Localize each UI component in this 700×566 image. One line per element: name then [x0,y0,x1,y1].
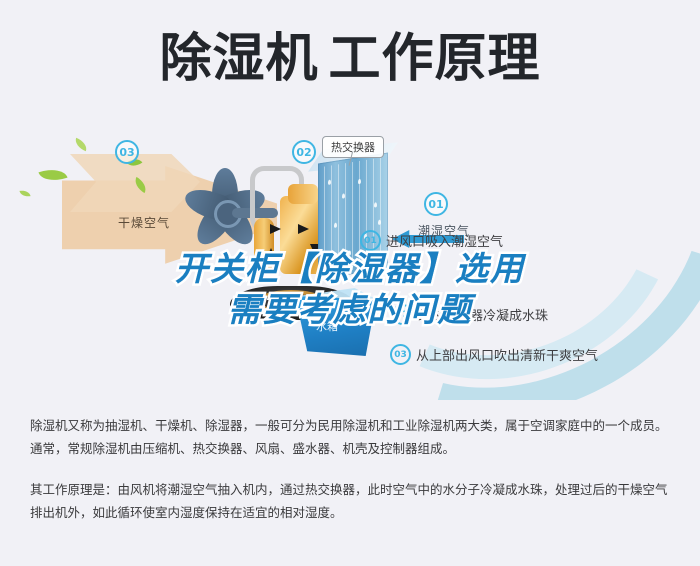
page-title: 除湿机工作原理 [159,33,540,85]
leaf-icon [19,189,30,198]
heat-exchanger-block [318,152,388,279]
article-body: 除湿机又称为抽湿机、干燥机、除湿器，一般可分为民用除湿机和工业除湿机两大类，属于… [30,414,678,524]
callout-badge-03: 03 [115,140,139,164]
water-tank-label: 水箱 [316,318,338,334]
step-note-02: 02 经过蒸发器冷凝成水珠 [392,304,548,325]
step-note-text-03: 从上部出风口吹出清新干爽空气 [416,345,598,364]
step-badge-01: 01 [360,230,381,251]
heat-exchanger-callout: 热交换器 [322,136,384,158]
dry-air-label: 干燥空气 [118,214,170,231]
title-part-2: 工作原理 [329,29,541,89]
body-paragraph-1: 除湿机又称为抽湿机、干燥机、除湿器，一般可分为民用除湿机和工业除湿机两大类，属于… [30,414,678,460]
poster-page: 除湿机工作原理 干燥空气 [0,0,700,566]
callout-badge-01: 01 [424,192,448,216]
step-note-text-01: 进风口吸入潮湿空气 [386,231,503,250]
copper-coil-top [288,184,318,204]
dehumidifier-diagram: 干燥空气 [0,118,700,400]
flow-arrow-right-icon [270,224,281,234]
leaf-icon [73,138,89,152]
step-badge-03: 03 [390,344,411,365]
title-part-1: 除湿机 [159,29,318,89]
heat-exchanger-fins [318,152,388,279]
flow-arrow-right-icon [298,224,309,234]
poster-header: 除湿机工作原理 [0,0,700,118]
step-badge-02: 02 [392,304,413,325]
step-note-text-02: 经过蒸发器冷凝成水珠 [418,305,548,324]
body-paragraph-2: 其工作原理是：由风机将潮湿空气抽入机内，通过热交换器，此时空气中的水分子冷凝成水… [30,478,678,524]
callout-badge-02: 02 [292,140,316,164]
flow-arrow-up-icon [266,248,276,259]
step-note-01: 01 进风口吸入潮湿空气 [360,230,503,251]
step-note-03: 03 从上部出风口吹出清新干爽空气 [390,344,598,365]
